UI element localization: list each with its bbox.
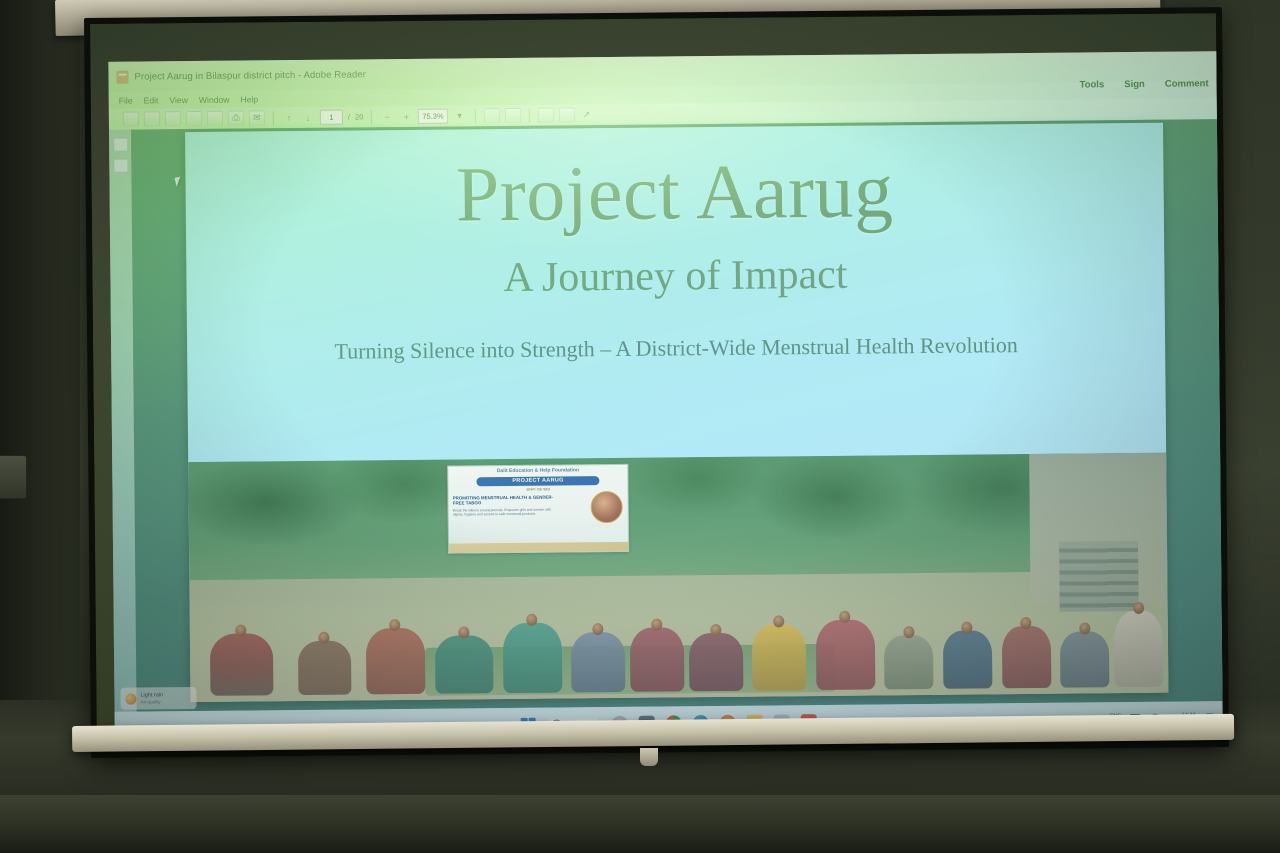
select-glyph: ➚	[580, 108, 594, 121]
room-baseboard	[0, 795, 1280, 853]
bookmarks-icon[interactable]	[113, 159, 128, 173]
photo-person	[630, 627, 684, 692]
menu-view[interactable]: View	[169, 95, 188, 105]
photo-person	[209, 633, 273, 696]
photo-person	[1002, 626, 1051, 688]
photo-person	[1114, 611, 1164, 687]
toolbar-file-group: ⎙ ✉	[117, 110, 271, 126]
banner-organisation: Dalit Education & Help Foundation	[452, 468, 623, 475]
photo-person	[884, 635, 933, 689]
projector-room-scene: Project Aarug in Bilaspur district pitch…	[0, 0, 1280, 853]
window-title: Project Aarug in Bilaspur district pitch…	[134, 69, 366, 82]
photo-person	[434, 635, 493, 694]
open-file-icon[interactable]	[123, 112, 139, 127]
plus-glyph: +	[399, 110, 413, 123]
photo-person	[366, 628, 425, 695]
zoom-dropdown-icon[interactable]: ▾	[453, 109, 467, 122]
comment-button[interactable]: Comment	[1165, 78, 1209, 89]
toolbar-separator	[529, 108, 530, 122]
weather-detail: Air quality	[140, 699, 163, 704]
menu-window[interactable]: Window	[199, 94, 230, 104]
document-area[interactable]: Project Aarug A Journey of Impact Turnin…	[131, 119, 1223, 711]
envelope-icon[interactable]: ✉	[249, 110, 265, 125]
chevron-down-glyph: ↓	[301, 111, 315, 124]
toolbar-separator	[273, 111, 274, 125]
slide-tagline: Turning Silence into Strength – A Distri…	[334, 330, 1018, 366]
page-down-icon[interactable]: ↓	[301, 111, 315, 124]
banner-body-text: Break the silence around periods. Empowe…	[453, 507, 559, 517]
window-controls: – ☐ ×	[1118, 15, 1210, 29]
photo-person	[816, 619, 875, 690]
event-banner: Dalit Education & Help Foundation PROJEC…	[447, 464, 629, 554]
page-total: 20	[355, 112, 363, 121]
toolbar-page-group: ↑ ↓ 1 / 20	[276, 109, 370, 125]
chevron-down-glyph: ▾	[453, 109, 467, 122]
zoom-in-icon[interactable]: +	[399, 110, 413, 123]
photo-person	[689, 633, 743, 692]
adobe-reader-window: Project Aarug in Bilaspur district pitch…	[108, 51, 1222, 712]
toolbar-zoom-group: − + 75.3% ▾	[374, 108, 472, 124]
chevron-up-glyph: ↑	[282, 111, 296, 124]
photo-stairs	[1059, 541, 1138, 612]
page-up-icon[interactable]: ↑	[282, 111, 296, 124]
page-thumbnails-icon[interactable]	[113, 138, 128, 152]
toolbar-comment-group: ➚	[532, 107, 600, 123]
adobe-pdf-icon	[116, 70, 128, 83]
maximize-button[interactable]: ☐	[1156, 16, 1172, 29]
projected-desktop: Project Aarug in Bilaspur district pitch…	[90, 13, 1223, 746]
minus-glyph: −	[380, 110, 394, 123]
reader-workarea: Project Aarug A Journey of Impact Turnin…	[109, 119, 1223, 712]
fit-page-icon[interactable]	[505, 108, 521, 123]
banner-headline: PROMOTING MENSTRUAL HEALTH & GENDER-FREE…	[453, 494, 559, 507]
photo-person	[298, 641, 352, 696]
save-icon[interactable]	[165, 111, 181, 126]
menu-edit[interactable]: Edit	[144, 95, 159, 105]
slide-title: Project Aarug	[455, 151, 893, 233]
print-glyph: ⎙	[229, 112, 243, 125]
slide-photograph: Dalit Education & Help Foundation PROJEC…	[188, 453, 1168, 702]
comment-bubble-icon[interactable]	[538, 108, 554, 123]
email-icon[interactable]	[186, 111, 202, 126]
banner-subline: आरूग एक पहल	[453, 485, 624, 493]
windows-desktop: Project Aarug in Bilaspur district pitch…	[108, 51, 1223, 746]
close-button[interactable]: ×	[1194, 15, 1210, 28]
page-separator: /	[348, 113, 350, 122]
wall-socket	[0, 455, 27, 499]
slide-text-block: Project Aarug A Journey of Impact Turnin…	[185, 123, 1166, 488]
photo-person	[1060, 631, 1109, 687]
photo-person	[752, 624, 806, 691]
toolbar-separator	[475, 109, 476, 123]
envelope-glyph: ✉	[250, 111, 264, 124]
tools-button[interactable]: Tools	[1080, 79, 1105, 90]
zoom-level-input[interactable]: 75.3%	[418, 109, 447, 124]
banner-project-name: PROJECT AARUG	[476, 476, 599, 486]
select-tool-icon[interactable]: ➚	[580, 108, 594, 121]
taskbar-weather-widget[interactable]: Light rain Air quality	[120, 687, 196, 710]
minimize-button[interactable]: –	[1118, 16, 1134, 29]
weather-text: Light rain Air quality	[140, 693, 163, 705]
sign-button[interactable]: Sign	[1124, 79, 1145, 90]
projector-screen-pull-tab	[640, 748, 658, 766]
zoom-out-icon[interactable]: −	[380, 110, 394, 123]
banner-portrait-photo	[591, 491, 623, 523]
export-icon[interactable]	[207, 111, 223, 126]
toolbar-fit-group	[478, 108, 527, 123]
weather-icon	[125, 693, 136, 704]
pdf-slide-page: Project Aarug A Journey of Impact Turnin…	[185, 123, 1168, 702]
mouse-cursor	[174, 177, 182, 187]
slide-subtitle: A Journey of Impact	[503, 254, 847, 299]
create-pdf-icon[interactable]	[144, 111, 160, 126]
photo-person	[571, 632, 625, 693]
menu-help[interactable]: Help	[240, 94, 258, 104]
page-number-input[interactable]: 1	[320, 110, 343, 125]
fit-width-icon[interactable]	[484, 108, 500, 123]
highlight-icon[interactable]	[559, 107, 575, 122]
photo-person	[943, 630, 992, 688]
print-icon[interactable]: ⎙	[228, 111, 244, 126]
photo-person	[503, 623, 562, 694]
banner-footer-strip	[449, 542, 628, 553]
menu-file[interactable]: File	[119, 95, 133, 105]
toolbar-separator	[371, 110, 372, 124]
toolbar-right-buttons: Tools Sign Comment	[1080, 78, 1209, 90]
